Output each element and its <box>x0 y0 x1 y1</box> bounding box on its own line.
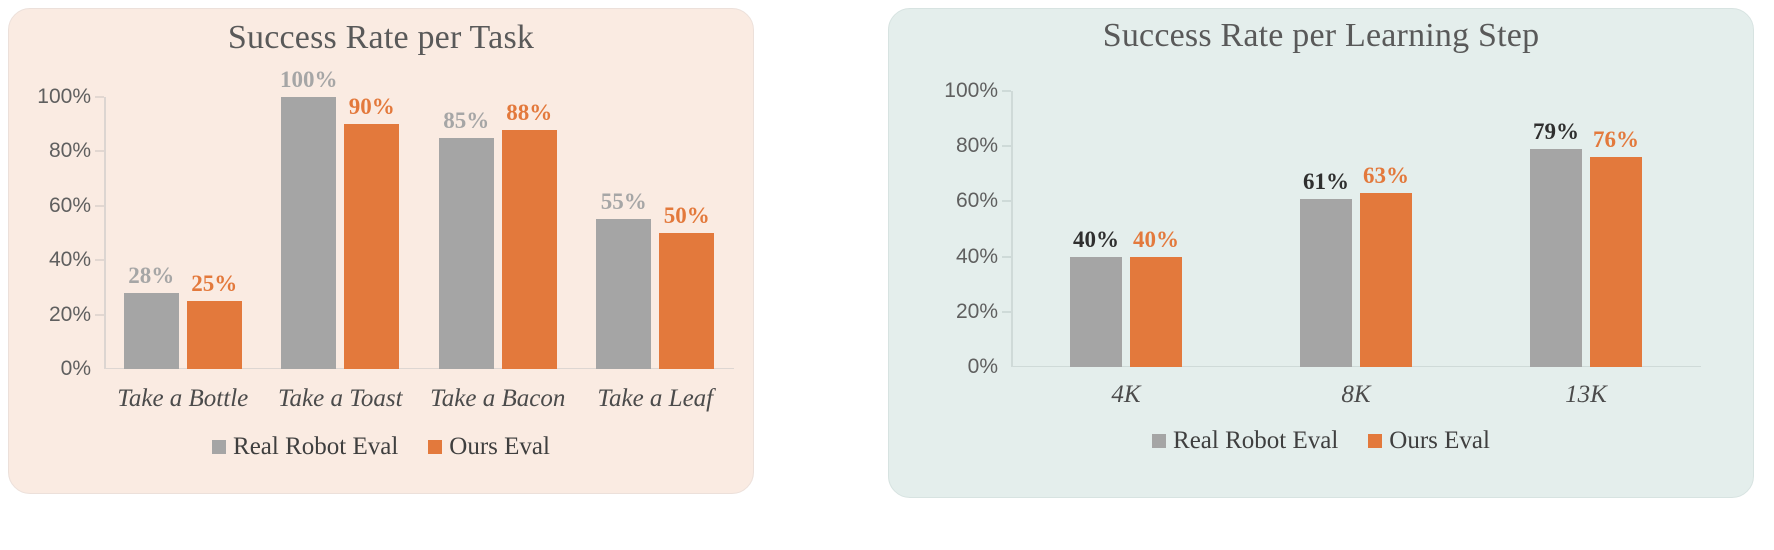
plot-area-left: 0%20%40%60%80%100% 28%25%100%90%85%88%55… <box>104 97 734 369</box>
x-axis-category-label: Take a Bottle <box>104 385 262 413</box>
bar-value-label: 25% <box>191 271 237 297</box>
bar-fill <box>596 219 651 369</box>
bar-group: 61%63% <box>1241 91 1471 367</box>
legend-swatch-icon <box>428 440 442 454</box>
x-axis-category-label: Take a Toast <box>262 385 420 413</box>
bar-value-label: 76% <box>1593 127 1639 153</box>
y-tick-mark <box>1002 91 1011 92</box>
legend-item[interactable]: Real Robot Eval <box>1152 427 1338 455</box>
bar-fill <box>187 301 242 369</box>
y-tick-label: 0% <box>968 355 1011 379</box>
x-axis-category-label: 4K <box>1011 381 1241 409</box>
bar-group: 79%76% <box>1471 91 1701 367</box>
bar-fill <box>502 130 557 369</box>
legend-label: Ours Eval <box>449 433 550 461</box>
y-tick-mark <box>1002 201 1011 202</box>
bar-ours-eval[interactable]: 50% <box>659 233 714 369</box>
legend-item[interactable]: Ours Eval <box>1368 427 1490 455</box>
bar-value-label: 40% <box>1133 227 1179 253</box>
legend-item[interactable]: Real Robot Eval <box>212 433 398 461</box>
bar-real-robot-eval[interactable]: 40% <box>1070 257 1122 367</box>
bar-fill <box>281 97 336 369</box>
bar-value-label: 100% <box>280 67 338 93</box>
bar-value-label: 50% <box>664 203 710 229</box>
y-tick-label: 0% <box>61 357 104 381</box>
y-tick-mark <box>95 260 104 261</box>
bar-ours-eval[interactable]: 40% <box>1130 257 1182 367</box>
bar-group: 100%90% <box>262 97 420 369</box>
x-axis-category-label: Take a Bacon <box>419 385 577 413</box>
bar-value-label: 90% <box>349 94 395 120</box>
legend-label: Real Robot Eval <box>1173 427 1338 455</box>
y-tick-mark <box>95 97 104 98</box>
bar-fill <box>1360 193 1412 367</box>
bar-fill <box>1130 257 1182 367</box>
page-title-left: Success Rate per Task <box>9 19 753 57</box>
bar-real-robot-eval[interactable]: 79% <box>1530 149 1582 367</box>
bar-fill <box>1070 257 1122 367</box>
bar-value-label: 55% <box>601 189 647 215</box>
bar-ours-eval[interactable]: 63% <box>1360 193 1412 367</box>
bar-group: 40%40% <box>1011 91 1241 367</box>
plot-area-right: 0%20%40%60%80%100% 40%40%61%63%79%76% <box>1011 91 1701 367</box>
legend-label: Ours Eval <box>1389 427 1490 455</box>
bar-value-label: 63% <box>1363 163 1409 189</box>
bar-real-robot-eval[interactable]: 61% <box>1300 199 1352 367</box>
bar-ours-eval[interactable]: 88% <box>502 130 557 369</box>
y-tick-mark <box>95 151 104 152</box>
x-axis-category-label: 8K <box>1241 381 1471 409</box>
y-tick-label: 100% <box>944 79 1011 103</box>
x-axis-category-label: Take a Leaf <box>577 385 735 413</box>
legend-swatch-icon <box>212 440 226 454</box>
bar-fill <box>1590 157 1642 367</box>
legend-item[interactable]: Ours Eval <box>428 433 550 461</box>
legend-swatch-icon <box>1368 434 1382 448</box>
bar-value-label: 28% <box>128 263 174 289</box>
bar-real-robot-eval[interactable]: 55% <box>596 219 651 369</box>
bar-ours-eval[interactable]: 25% <box>187 301 242 369</box>
bar-value-label: 40% <box>1073 227 1119 253</box>
page-title-right: Success Rate per Learning Step <box>889 17 1753 55</box>
bar-value-label: 61% <box>1303 169 1349 195</box>
chart-panel-success-rate-per-task: Success Rate per Task 0%20%40%60%80%100%… <box>8 8 754 494</box>
bar-group: 55%50% <box>577 97 735 369</box>
x-axis-category-label: 13K <box>1471 381 1701 409</box>
bar-fill <box>124 293 179 369</box>
legend-right: Real Robot EvalOurs Eval <box>889 427 1753 455</box>
y-tick-mark <box>95 314 104 315</box>
bar-ours-eval[interactable]: 90% <box>344 124 399 369</box>
y-tick-mark <box>1002 311 1011 312</box>
bar-real-robot-eval[interactable]: 85% <box>439 138 494 369</box>
y-tick-mark <box>1002 146 1011 147</box>
bar-ours-eval[interactable]: 76% <box>1590 157 1642 367</box>
legend-label: Real Robot Eval <box>233 433 398 461</box>
bar-real-robot-eval[interactable]: 100% <box>281 97 336 369</box>
charts-board: Success Rate per Task 0%20%40%60%80%100%… <box>0 0 1774 550</box>
bar-group: 28%25% <box>104 97 262 369</box>
y-tick-mark <box>1002 256 1011 257</box>
bar-groups-right: 40%40%61%63%79%76% <box>1011 91 1701 367</box>
bar-fill <box>1300 199 1352 367</box>
bar-real-robot-eval[interactable]: 28% <box>124 293 179 369</box>
bar-value-label: 88% <box>506 100 552 126</box>
bar-fill <box>659 233 714 369</box>
bar-fill <box>439 138 494 369</box>
bar-groups-left: 28%25%100%90%85%88%55%50% <box>104 97 734 369</box>
bar-fill <box>344 124 399 369</box>
legend-swatch-icon <box>1152 434 1166 448</box>
bar-value-label: 85% <box>443 108 489 134</box>
y-tick-label: 100% <box>37 85 104 109</box>
y-tick-mark <box>95 205 104 206</box>
bar-value-label: 79% <box>1533 119 1579 145</box>
legend-left: Real Robot EvalOurs Eval <box>9 433 753 461</box>
bar-group: 85%88% <box>419 97 577 369</box>
chart-panel-success-rate-per-learning-step: Success Rate per Learning Step 0%20%40%6… <box>888 8 1754 498</box>
bar-fill <box>1530 149 1582 367</box>
